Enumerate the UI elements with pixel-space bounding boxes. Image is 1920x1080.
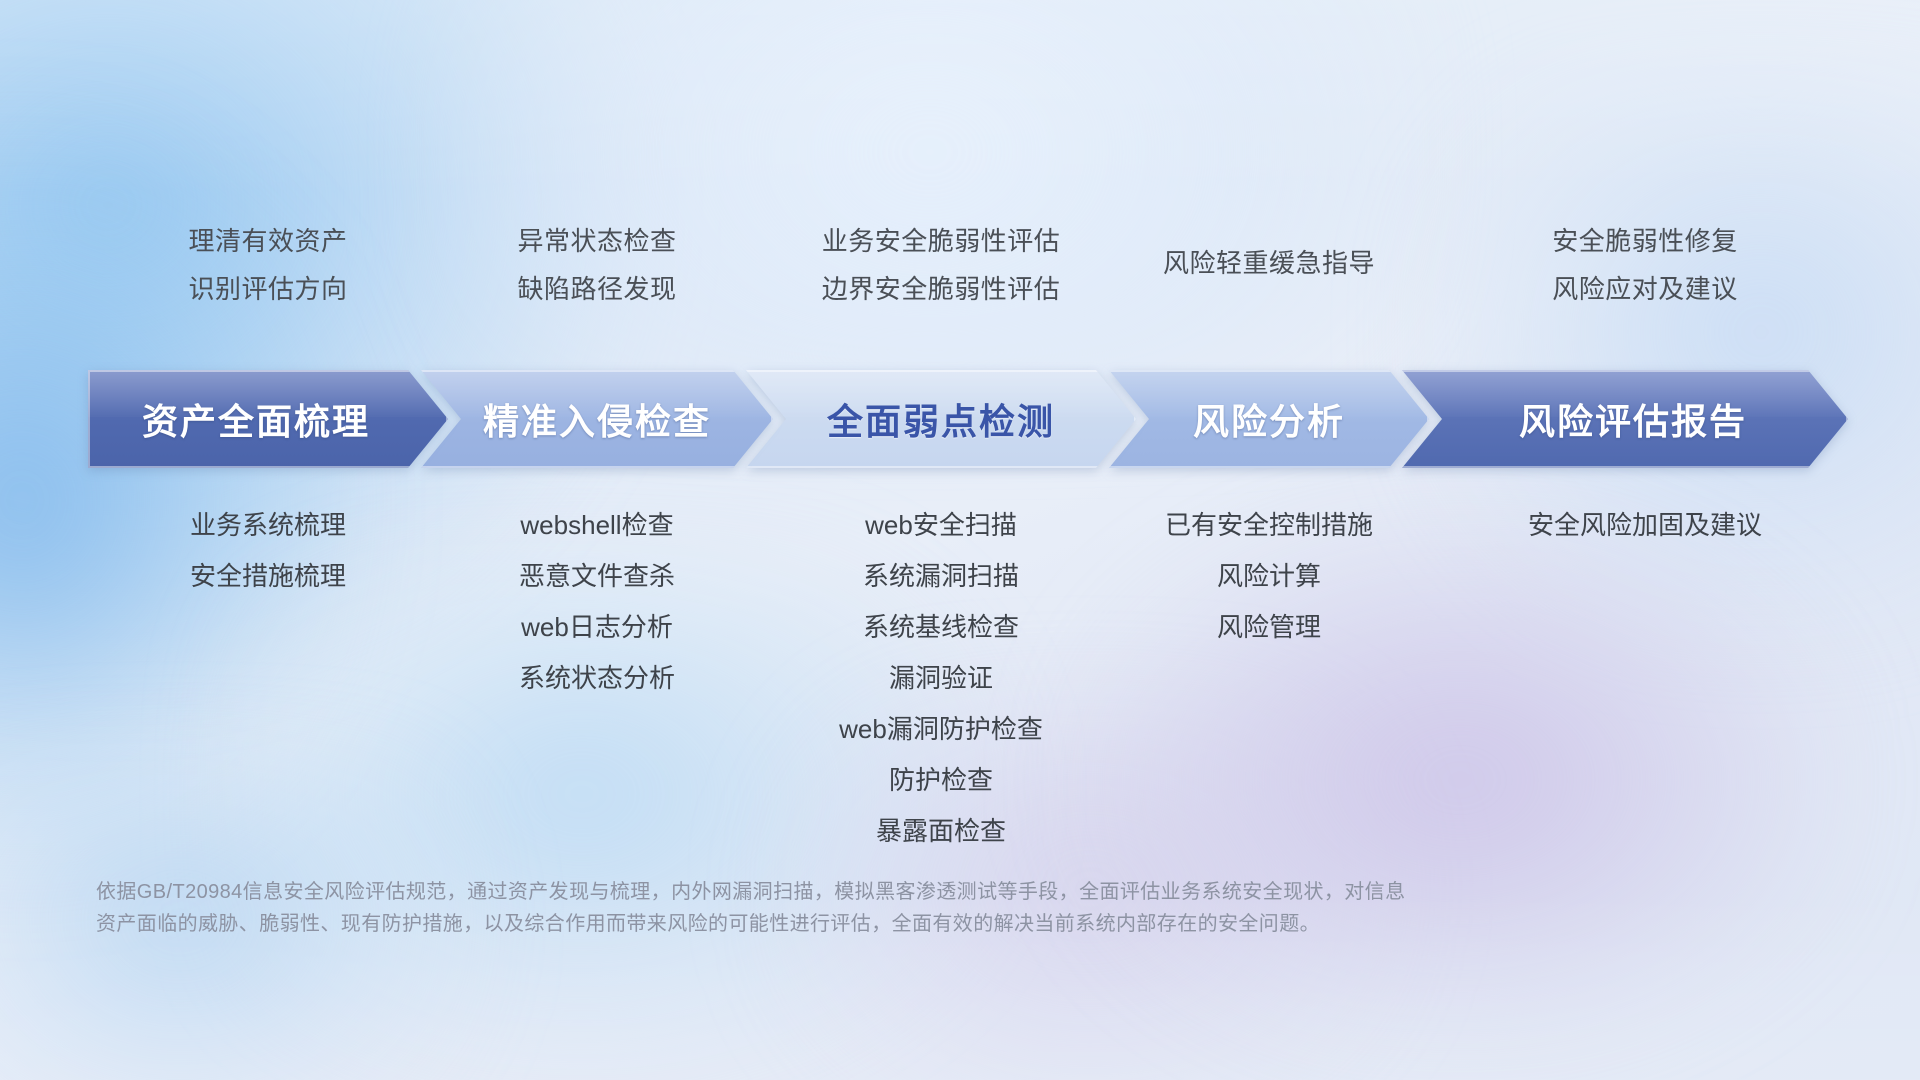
outcome-item: 安全脆弱性修复 — [1552, 228, 1738, 254]
activity-item: 系统基线检查 — [863, 614, 1019, 640]
stage-5-activities: 安全风险加固及建议 — [1402, 512, 1888, 844]
activity-item: 系统漏洞扫描 — [863, 563, 1019, 589]
stage-title: 全面弱点检测 — [827, 393, 1055, 445]
process-stage-1[interactable]: 资产全面梳理 — [88, 370, 448, 468]
activity-item: 安全措施梳理 — [190, 563, 346, 589]
stage-title: 风险分析 — [1193, 393, 1345, 445]
top-outcomes-row: 理清有效资产识别评估方向异常状态检查缺陷路径发现业务安全脆弱性评估边界安全脆弱性… — [0, 228, 1920, 302]
footer-line-2: 资产面临的威胁、脆弱性、现有防护措施，以及综合作用而带来风险的可能性进行评估，全… — [96, 908, 1656, 940]
activity-item: web日志分析 — [521, 614, 673, 640]
stage-title: 资产全面梳理 — [142, 393, 370, 445]
outcome-item: 风险轻重缓急指导 — [1163, 250, 1375, 276]
bottom-activities-row: 业务系统梳理安全措施梳理webshell检查恶意文件查杀web日志分析系统状态分… — [0, 512, 1920, 844]
activity-item: 恶意文件查杀 — [519, 563, 675, 589]
footer-description: 依据GB/T20984信息安全风险评估规范，通过资产发现与梳理，内外网漏洞扫描，… — [96, 876, 1656, 941]
stage-2-outcomes: 异常状态检查缺陷路径发现 — [421, 228, 773, 302]
stage-4-outcomes: 风险轻重缓急指导 — [1109, 228, 1429, 302]
process-stage-2[interactable]: 精准入侵检查 — [421, 370, 773, 468]
stage-3-outcomes: 业务安全脆弱性评估边界安全脆弱性评估 — [746, 228, 1136, 302]
outcome-item: 理清有效资产 — [188, 228, 347, 254]
activity-item: 风险管理 — [1217, 614, 1321, 640]
outcome-item: 识别评估方向 — [188, 276, 347, 302]
activity-item: 已有安全控制措施 — [1165, 512, 1373, 538]
process-stage-5[interactable]: 风险评估报告 — [1402, 370, 1848, 468]
outcome-item: 异常状态检查 — [517, 228, 676, 254]
stage-1-activities: 业务系统梳理安全措施梳理 — [88, 512, 448, 844]
activity-item: 漏洞验证 — [889, 665, 993, 691]
stage-title: 精准入侵检查 — [483, 393, 711, 445]
risk-assessment-process-diagram: 理清有效资产识别评估方向异常状态检查缺陷路径发现业务安全脆弱性评估边界安全脆弱性… — [0, 0, 1920, 1080]
activity-item: web安全扫描 — [865, 512, 1017, 538]
stage-4-activities: 已有安全控制措施风险计算风险管理 — [1109, 512, 1429, 844]
outcome-item: 业务安全脆弱性评估 — [822, 228, 1061, 254]
stage-5-outcomes: 安全脆弱性修复风险应对及建议 — [1402, 228, 1888, 302]
activity-item: 防护检查 — [889, 767, 993, 793]
process-chevron-band: 资产全面梳理精准入侵检查全面弱点检测风险分析风险评估报告 — [88, 370, 1848, 468]
outcome-item: 边界安全脆弱性评估 — [822, 276, 1061, 302]
footer-line-1: 依据GB/T20984信息安全风险评估规范，通过资产发现与梳理，内外网漏洞扫描，… — [96, 876, 1656, 908]
activity-item: 风险计算 — [1217, 563, 1321, 589]
process-stage-3[interactable]: 全面弱点检测 — [746, 370, 1136, 468]
outcome-item: 风险应对及建议 — [1552, 276, 1738, 302]
activity-item: web漏洞防护检查 — [839, 716, 1043, 742]
stage-2-activities: webshell检查恶意文件查杀web日志分析系统状态分析 — [421, 512, 773, 844]
activity-item: 安全风险加固及建议 — [1528, 512, 1762, 538]
stage-1-outcomes: 理清有效资产识别评估方向 — [88, 228, 448, 302]
process-stage-4[interactable]: 风险分析 — [1109, 370, 1429, 468]
activity-item: 暴露面检查 — [876, 818, 1006, 844]
stage-3-activities: web安全扫描系统漏洞扫描系统基线检查漏洞验证web漏洞防护检查防护检查暴露面检… — [746, 512, 1136, 844]
stage-title: 风险评估报告 — [1519, 393, 1747, 445]
activity-item: 业务系统梳理 — [190, 512, 346, 538]
activity-item: 系统状态分析 — [519, 665, 675, 691]
activity-item: webshell检查 — [520, 512, 673, 538]
outcome-item: 缺陷路径发现 — [517, 276, 676, 302]
